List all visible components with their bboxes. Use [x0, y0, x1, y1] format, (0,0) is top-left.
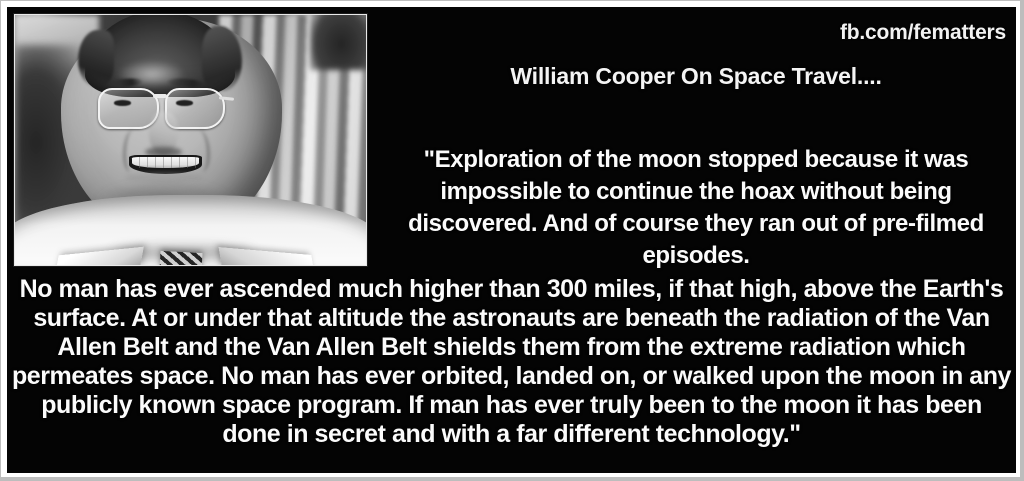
meme-image: fb.com/fematters William Cooper On Space…: [0, 0, 1024, 481]
subject-shirt: [15, 195, 366, 265]
meme-quote-body: No man has ever ascended much higher tha…: [11, 275, 1012, 449]
photo-background-foliage: [310, 15, 366, 70]
meme-canvas: fb.com/fematters William Cooper On Space…: [7, 7, 1016, 473]
subject-tie: [160, 251, 203, 265]
subject-eye-left: [114, 100, 132, 106]
eyeglass-bridge: [153, 94, 167, 98]
portrait-photo-image: [15, 15, 366, 265]
subject-hair-wisp-left: [78, 30, 113, 86]
meme-title: William Cooper On Space Travel....: [382, 63, 1010, 90]
subject-teeth: [132, 157, 199, 168]
watermark-credit: fb.com/fematters: [840, 21, 1006, 45]
subject-eye-right: [176, 100, 194, 106]
subject-hair-wisp-right: [202, 26, 242, 91]
portrait-photo: [14, 14, 367, 266]
subject-collar-right: [218, 247, 314, 265]
meme-quote-upper: "Exploration of the moon stopped because…: [379, 144, 1013, 272]
subject-collar-left: [55, 246, 144, 265]
